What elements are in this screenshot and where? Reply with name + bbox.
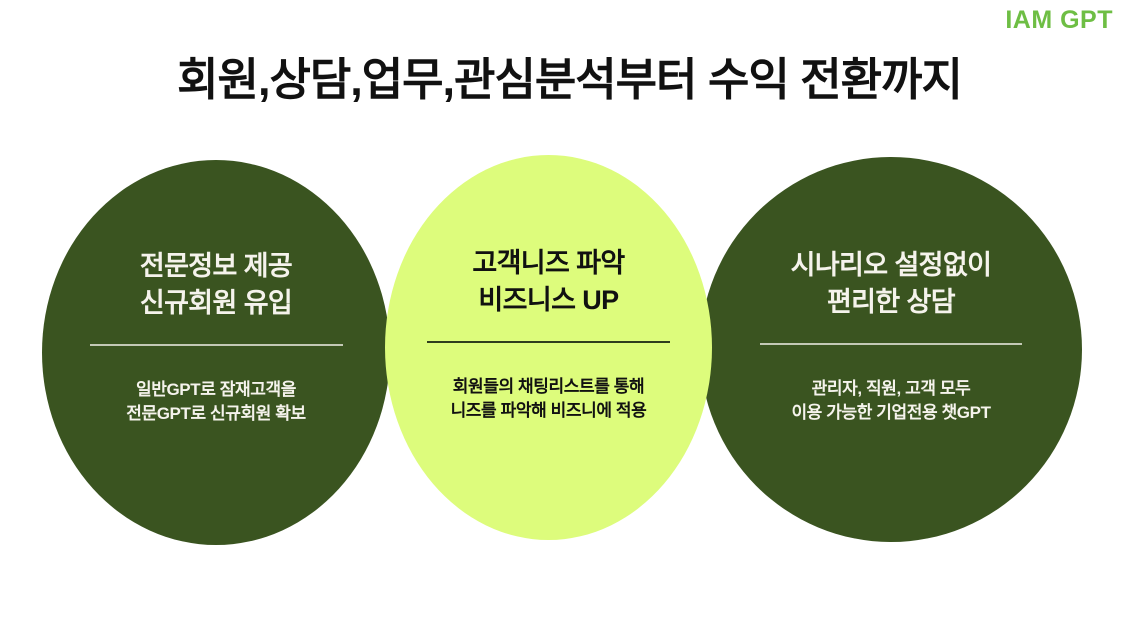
feature-title-right: 시나리오 설정없이 편리한 상담 [791, 247, 992, 322]
feature-circle-right: 시나리오 설정없이 편리한 상담 관리자, 직원, 고객 모두 이용 가능한 기… [700, 157, 1082, 542]
feature-divider-right [760, 343, 1022, 345]
feature-divider-center [427, 341, 670, 343]
slide-canvas: IAM GPT 회원,상담,업무,관심분석부터 수익 전환까지 전문정보 제공 … [0, 0, 1139, 638]
feature-body-right: 관리자, 직원, 고객 모두 이용 가능한 기업전용 챗GPT [791, 377, 990, 426]
feature-divider-left [90, 344, 343, 346]
feature-title-left: 전문정보 제공 신규회원 유입 [140, 248, 292, 323]
feature-circle-center: 고객니즈 파악 비즈니스 UP 회원들의 채팅리스트를 통해 니즈를 파악해 비… [385, 155, 712, 540]
feature-circle-left: 전문정보 제공 신규회원 유입 일반GPT로 잠재고객을 전문GPT로 신규회원… [42, 160, 390, 545]
feature-body-left: 일반GPT로 잠재고객을 전문GPT로 신규회원 확보 [126, 378, 306, 427]
feature-title-center: 고객니즈 파악 비즈니스 UP [472, 245, 624, 320]
feature-body-center: 회원들의 채팅리스트를 통해 니즈를 파악해 비즈니에 적용 [451, 375, 647, 424]
venn-diagram: 전문정보 제공 신규회원 유입 일반GPT로 잠재고객을 전문GPT로 신규회원… [0, 0, 1139, 638]
